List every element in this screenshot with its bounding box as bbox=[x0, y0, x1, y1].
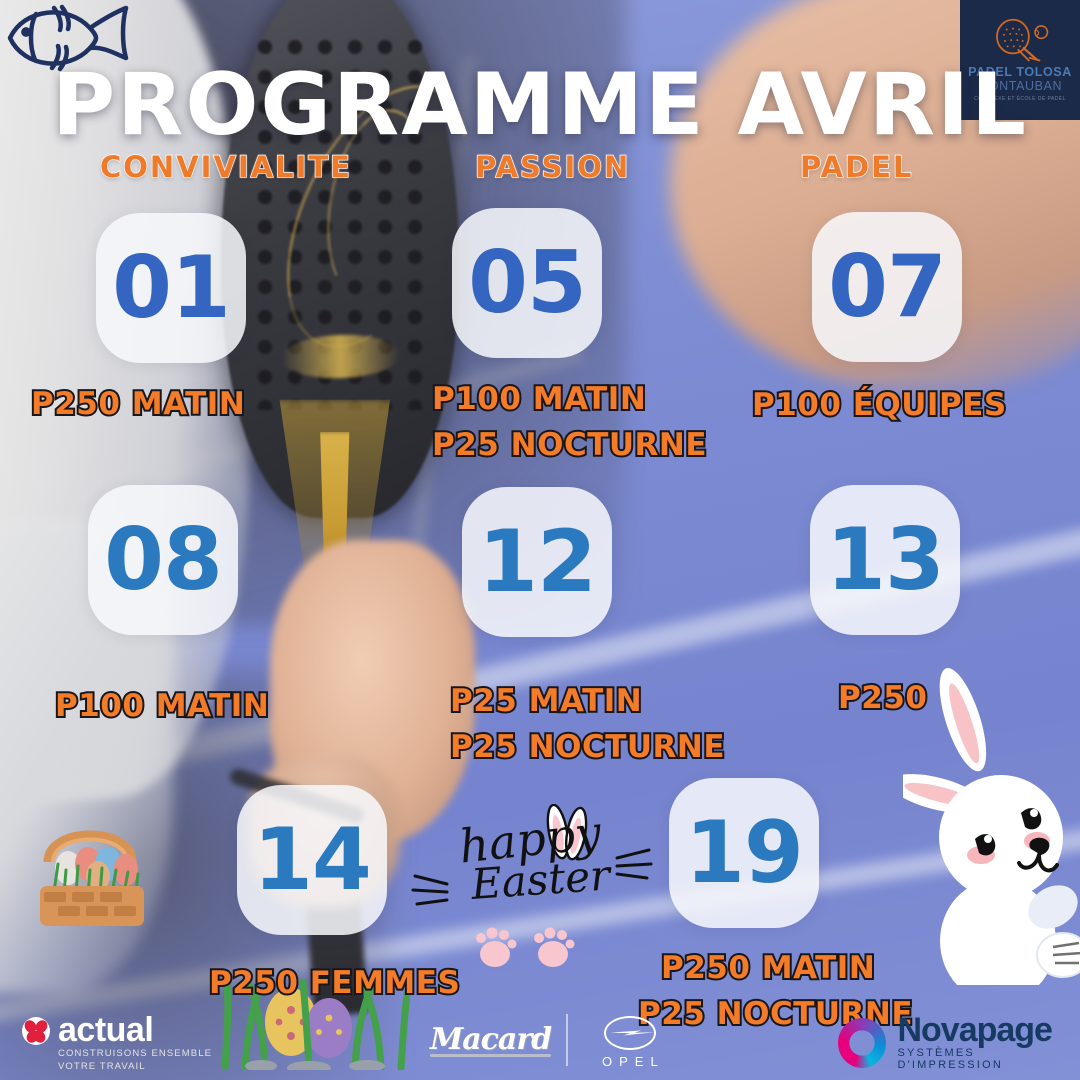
events-08: P100 MATIN bbox=[55, 688, 269, 724]
date-number: 13 bbox=[826, 517, 944, 603]
sponsor-name: OPEL bbox=[602, 1054, 665, 1069]
date-number: 14 bbox=[253, 817, 371, 903]
date-tile-01[interactable]: 01 bbox=[96, 213, 246, 363]
sponsor-macard[interactable]: Macard bbox=[430, 1022, 551, 1057]
sponsor-tagline-line-2: VOTRE TRAVAIL bbox=[58, 1061, 212, 1074]
event-label: P100 ÉQUIPES bbox=[752, 387, 1007, 423]
sparkle-lines-icon bbox=[407, 862, 467, 922]
event-label: P250 MATIN bbox=[661, 950, 913, 986]
opel-blitz-icon bbox=[604, 1016, 656, 1050]
sponsor-name: Macard bbox=[430, 1022, 551, 1057]
event-label: P25 NOCTURNE bbox=[450, 729, 725, 765]
date-number: 07 bbox=[828, 244, 946, 330]
event-label: P250 bbox=[838, 680, 927, 716]
date-tile-14[interactable]: 14 bbox=[237, 785, 387, 935]
subtitle-passion: PASSION bbox=[475, 150, 630, 184]
sponsor-tagline-line-1: CONSTRUISONS ENSEMBLE bbox=[58, 1048, 212, 1061]
subtitle-convivialite: CONVIVIALITE bbox=[100, 150, 352, 184]
novapage-ring-icon bbox=[838, 1018, 886, 1068]
events-05: P100 MATIN P25 NOCTURNE bbox=[432, 381, 707, 463]
subtitle-padel: PADEL bbox=[800, 150, 913, 184]
event-label: P100 MATIN bbox=[55, 688, 269, 724]
date-tile-19[interactable]: 19 bbox=[669, 778, 819, 928]
sponsor-name: actual bbox=[58, 1014, 212, 1046]
date-tile-12[interactable]: 12 bbox=[462, 487, 612, 637]
event-label: P100 MATIN bbox=[432, 381, 707, 417]
sponsor-divider bbox=[566, 1014, 568, 1066]
events-01: P250 MATIN bbox=[31, 386, 245, 422]
sponsor-actual[interactable]: actual CONSTRUISONS ENSEMBLE VOTRE TRAVA… bbox=[22, 1014, 212, 1074]
date-tile-07[interactable]: 07 bbox=[812, 212, 962, 362]
date-number: 01 bbox=[112, 245, 230, 331]
event-label: P25 NOCTURNE bbox=[432, 427, 707, 463]
sponsor-opel[interactable]: OPEL bbox=[596, 1016, 665, 1069]
event-label: P250 MATIN bbox=[31, 386, 245, 422]
date-tile-05[interactable]: 05 bbox=[452, 208, 602, 358]
happy-easter-greeting: happy Easter bbox=[455, 810, 645, 960]
subtitle-row: CONVIVIALITE PASSION PADEL bbox=[0, 150, 1080, 190]
easter-basket-icon bbox=[20, 800, 160, 930]
sponsor-tagline: SYSTÈMES D'IMPRESSION bbox=[897, 1047, 1080, 1071]
date-tile-13[interactable]: 13 bbox=[810, 485, 960, 635]
sponsor-novapage[interactable]: Novapage SYSTÈMES D'IMPRESSION bbox=[838, 1014, 1080, 1071]
events-14: P250 FEMMES bbox=[209, 965, 460, 1001]
events-12: P25 MATIN P25 NOCTURNE bbox=[450, 683, 725, 765]
sponsor-bar: actual CONSTRUISONS ENSEMBLE VOTRE TRAVA… bbox=[0, 1000, 1080, 1080]
date-tile-08[interactable]: 08 bbox=[88, 485, 238, 635]
date-number: 05 bbox=[468, 240, 586, 326]
date-number: 08 bbox=[104, 517, 222, 603]
sparkle-lines-icon bbox=[597, 836, 657, 896]
poster-root: PADEL TOLOSA MONTAUBAN COMPLEXE ET ÉCOLE… bbox=[0, 0, 1080, 1080]
date-number: 12 bbox=[478, 519, 596, 605]
page-title: PROGRAMME AVRIL bbox=[0, 55, 1080, 155]
date-number: 19 bbox=[685, 810, 803, 896]
events-13: P250 bbox=[838, 680, 927, 716]
event-label: P250 FEMMES bbox=[209, 965, 460, 1001]
event-label: P25 MATIN bbox=[450, 683, 725, 719]
bunny-paws-icon bbox=[461, 920, 611, 970]
easter-bunny-icon bbox=[903, 655, 1080, 985]
clover-icon bbox=[22, 1017, 50, 1045]
sponsor-name: Novapage bbox=[897, 1014, 1080, 1046]
events-07: P100 ÉQUIPES bbox=[752, 387, 1007, 423]
